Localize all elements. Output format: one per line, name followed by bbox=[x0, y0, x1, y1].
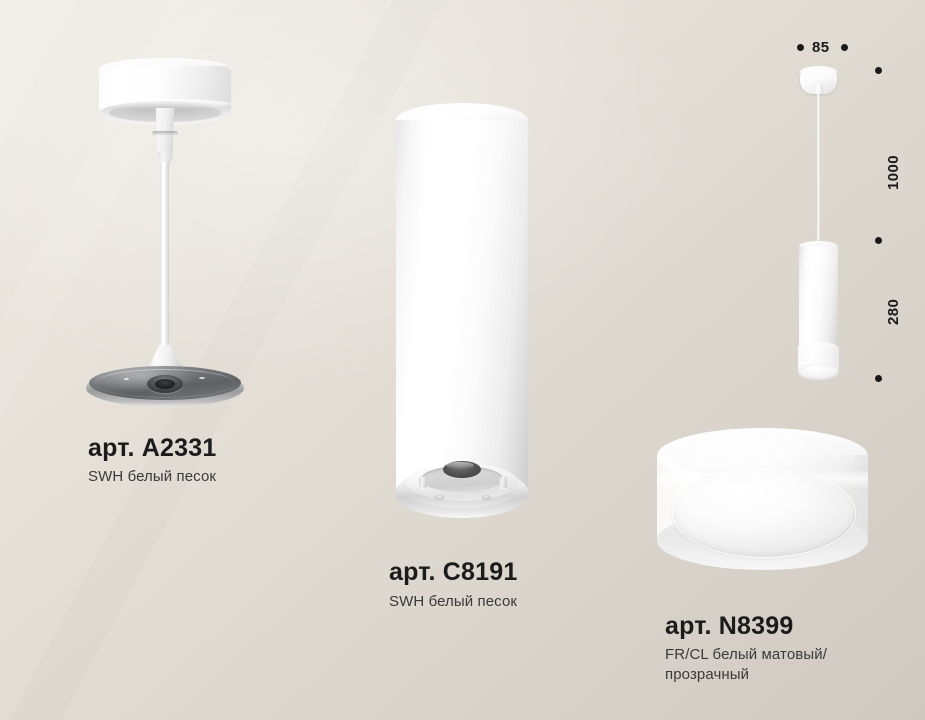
base-screw-right bbox=[482, 495, 491, 500]
dimension-label-fixture-height: 280 bbox=[885, 299, 902, 325]
canopy-rim-highlight bbox=[99, 99, 231, 109]
base-pin-right bbox=[499, 477, 507, 488]
product-a2331-description: SWH белый песок bbox=[88, 467, 216, 487]
product-c8191-article: арт. C8191 bbox=[389, 558, 517, 587]
product-c8191-description: SWH белый песок bbox=[389, 592, 517, 612]
assembly-diffuser-face bbox=[798, 363, 839, 380]
disc-highlight-right bbox=[199, 377, 205, 379]
product-n8399-article: арт. N8399 bbox=[665, 612, 793, 641]
product-a2331-article: арт. A2331 bbox=[88, 434, 216, 463]
assembly-cylinder-gloss bbox=[805, 246, 812, 355]
diffuser-face-edge bbox=[672, 468, 856, 558]
dimension-dot-middle bbox=[875, 237, 882, 244]
dimension-dot-width-right bbox=[841, 44, 848, 51]
dimension-dot-bottom bbox=[875, 375, 882, 382]
dimension-label-width: 85 bbox=[812, 39, 830, 56]
cable-gland-ring bbox=[152, 131, 178, 136]
product-n8399-description-line2: прозрачный bbox=[665, 665, 749, 685]
dimension-dot-top bbox=[875, 67, 882, 74]
cylinder-gloss-stripe bbox=[416, 120, 442, 492]
product-n8399-description-line1: FR/CL белый матовый/ bbox=[665, 645, 827, 665]
cylinder-top-sheen bbox=[402, 107, 512, 129]
dimension-dot-width-left bbox=[797, 44, 804, 51]
product-a2331[interactable] bbox=[0, 0, 340, 500]
assembly-cable bbox=[817, 93, 820, 246]
disc-highlight-left bbox=[124, 378, 129, 380]
base-pin-left bbox=[419, 477, 427, 488]
base-screw-left bbox=[435, 495, 444, 500]
product-diagram-canvas: арт. A2331 SWH белый песок арт. C8191 SW… bbox=[0, 0, 925, 720]
dimension-label-suspension-length: 1000 bbox=[885, 155, 902, 190]
disc-center-hole bbox=[155, 379, 175, 389]
suspension-rod bbox=[160, 162, 169, 354]
cylinder-socket-highlight bbox=[446, 462, 474, 469]
